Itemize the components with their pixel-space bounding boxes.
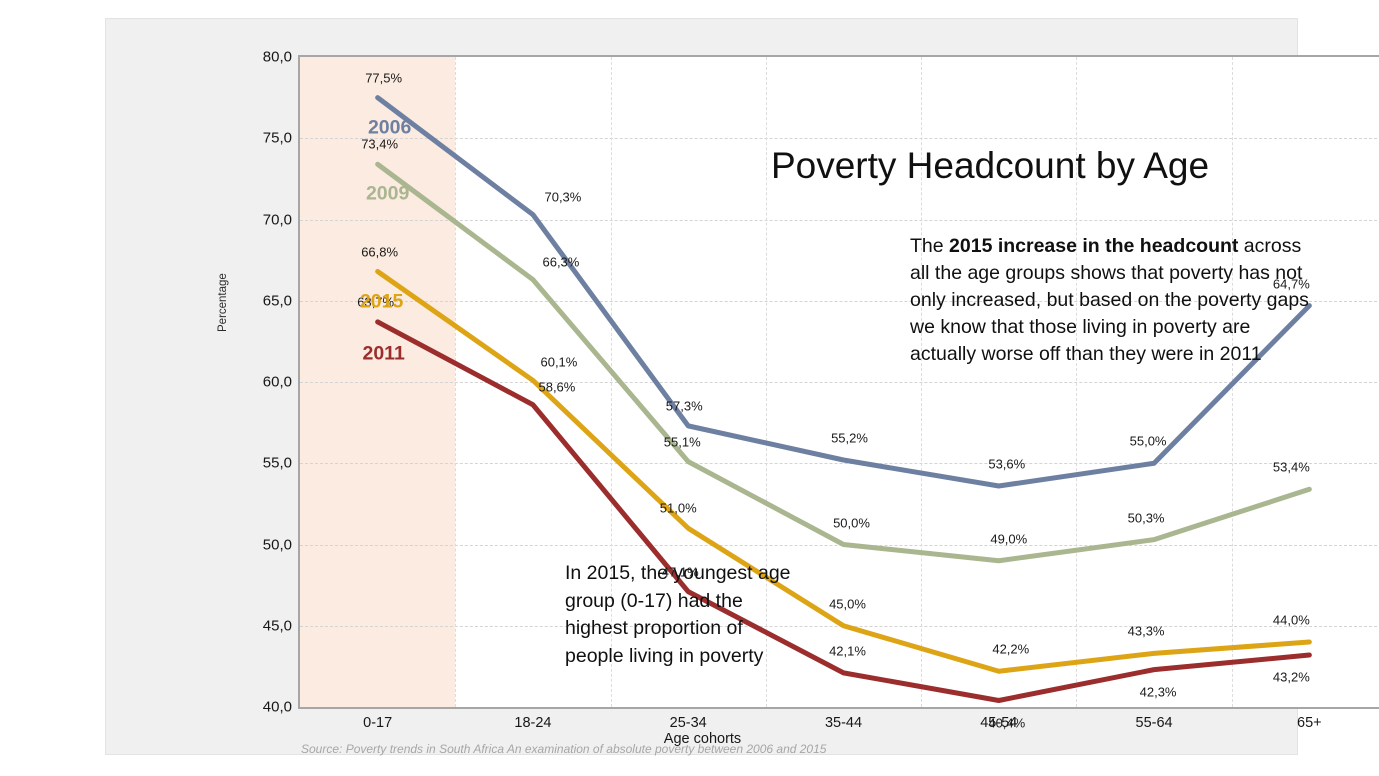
series-label-2015: 2015 (360, 290, 403, 313)
source-note: Source: Poverty trends in South Africa A… (301, 742, 826, 756)
y-tick-label: 45,0 (222, 617, 292, 634)
data-label-2006-18-24: 70,3% (544, 189, 581, 204)
y-tick-label: 50,0 (222, 536, 292, 553)
data-label-2011-25-34: 47,1% (662, 564, 699, 579)
chart-container: Percentage 80,075,070,065,060,055,050,04… (105, 18, 1298, 755)
data-label-2009-35-44: 50,0% (833, 515, 870, 530)
x-tick-label-65+: 65+ (1297, 715, 1322, 731)
data-label-2006-45-54: 53,6% (988, 457, 1025, 472)
y-tick-label: 65,0 (222, 292, 292, 309)
data-label-2006-65+: 64,7% (1273, 276, 1310, 291)
y-tick-label: 80,0 (222, 49, 292, 66)
data-label-2015-35-44: 45,0% (829, 596, 866, 611)
series-label-2006: 2006 (368, 116, 411, 139)
y-tick-label: 75,0 (222, 130, 292, 147)
data-label-2015-55-64: 43,3% (1128, 624, 1165, 639)
data-label-2009-18-24: 66,3% (542, 254, 579, 269)
data-label-2009-45-54: 49,0% (990, 531, 1027, 546)
series-label-2009: 2009 (366, 183, 409, 206)
data-label-2009-25-34: 55,1% (664, 434, 701, 449)
x-tick-label-55-64: 55-64 (1136, 715, 1173, 731)
x-tick-label-45-54: 45-54 (980, 715, 1017, 731)
data-label-2006-25-34: 57,3% (666, 398, 703, 413)
y-tick-label: 40,0 (222, 699, 292, 716)
data-label-2015-25-34: 51,0% (660, 501, 697, 516)
plot-area: Poverty Headcount by Age The 2015 increa… (298, 55, 1379, 709)
slide-canvas: Percentage 80,075,070,065,060,055,050,04… (0, 0, 1379, 776)
data-label-2006-0-17: 77,5% (365, 70, 402, 85)
series-label-2011: 2011 (362, 342, 404, 365)
data-label-2011-18-24: 58,6% (538, 379, 575, 394)
data-label-2011-35-44: 42,1% (829, 643, 866, 658)
y-tick-label: 55,0 (222, 455, 292, 472)
data-label-2015-18-24: 60,1% (540, 355, 577, 370)
data-label-2009-55-64: 50,3% (1128, 510, 1165, 525)
data-label-2015-45-54: 42,2% (992, 642, 1029, 657)
data-label-overlay: 77,5%70,3%57,3%55,2%53,6%55,0%64,7%73,4%… (300, 57, 1379, 707)
data-label-2006-55-64: 55,0% (1130, 434, 1167, 449)
x-tick-label-25-34: 25-34 (670, 715, 707, 731)
y-tick-label: 60,0 (222, 374, 292, 391)
y-tick-label: 70,0 (222, 211, 292, 228)
y-axis-tick-labels: 80,075,070,065,060,055,050,045,040,0 (216, 55, 292, 709)
x-tick-label-35-44: 35-44 (825, 715, 862, 731)
data-label-2009-65+: 53,4% (1273, 460, 1310, 475)
x-tick-label-0-17: 0-17 (363, 715, 392, 731)
data-label-2011-55-64: 42,3% (1140, 684, 1177, 699)
data-label-2006-35-44: 55,2% (831, 431, 868, 446)
data-label-2011-65+: 43,2% (1273, 670, 1310, 685)
x-tick-label-18-24: 18-24 (514, 715, 551, 731)
data-label-2015-65+: 44,0% (1273, 613, 1310, 628)
data-label-2015-0-17: 66,8% (361, 244, 398, 259)
